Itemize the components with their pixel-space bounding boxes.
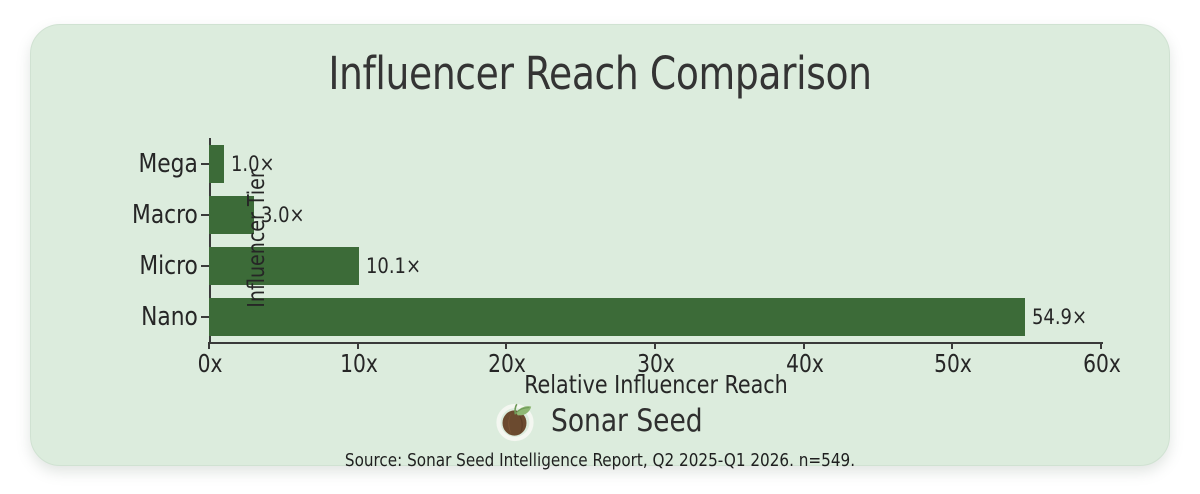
bar-mega: [209, 145, 224, 183]
x-tick-mark-0: [208, 342, 210, 349]
chart-card: Influencer Reach Comparison 1.0×Mega3.0×…: [30, 24, 1170, 466]
plot-area: 1.0×Mega3.0×Macro10.1×Micro54.9×Nano 0x1…: [209, 138, 1101, 342]
x-tick-mark-20: [505, 342, 507, 349]
brand-lockup: Sonar Seed: [31, 399, 1169, 443]
x-axis-spine: [209, 342, 1103, 344]
brand-name: Sonar Seed: [551, 403, 703, 439]
bar-nano: [209, 298, 1025, 336]
bar-micro: [209, 247, 359, 285]
y-tick-label-nano: Nano: [79, 304, 209, 330]
x-tick-mark-60: [1100, 342, 1102, 349]
bar-value-label-nano: 54.9×: [1032, 307, 1087, 328]
x-axis-title: Relative Influencer Reach: [245, 370, 1067, 399]
x-tick-mark-30: [654, 342, 656, 349]
x-tick-mark-50: [951, 342, 953, 349]
seed-sprout-logo-icon: [493, 399, 537, 443]
y-tick-label-micro: Micro: [79, 253, 209, 279]
chart-title: Influencer Reach Comparison: [71, 47, 1129, 100]
y-tick-label-macro: Macro: [79, 202, 209, 228]
bar-value-label-micro: 10.1×: [366, 256, 421, 277]
y-axis-title: Influencer Tier: [244, 119, 270, 358]
x-tick-label-0: 0x: [170, 351, 251, 376]
x-tick-mark-10: [357, 342, 359, 349]
y-tick-label-mega: Mega: [79, 151, 209, 177]
x-tick-mark-40: [803, 342, 805, 349]
x-tick-label-60: 60x: [1062, 351, 1143, 376]
source-note: Source: Sonar Seed Intelligence Report, …: [65, 450, 1135, 471]
